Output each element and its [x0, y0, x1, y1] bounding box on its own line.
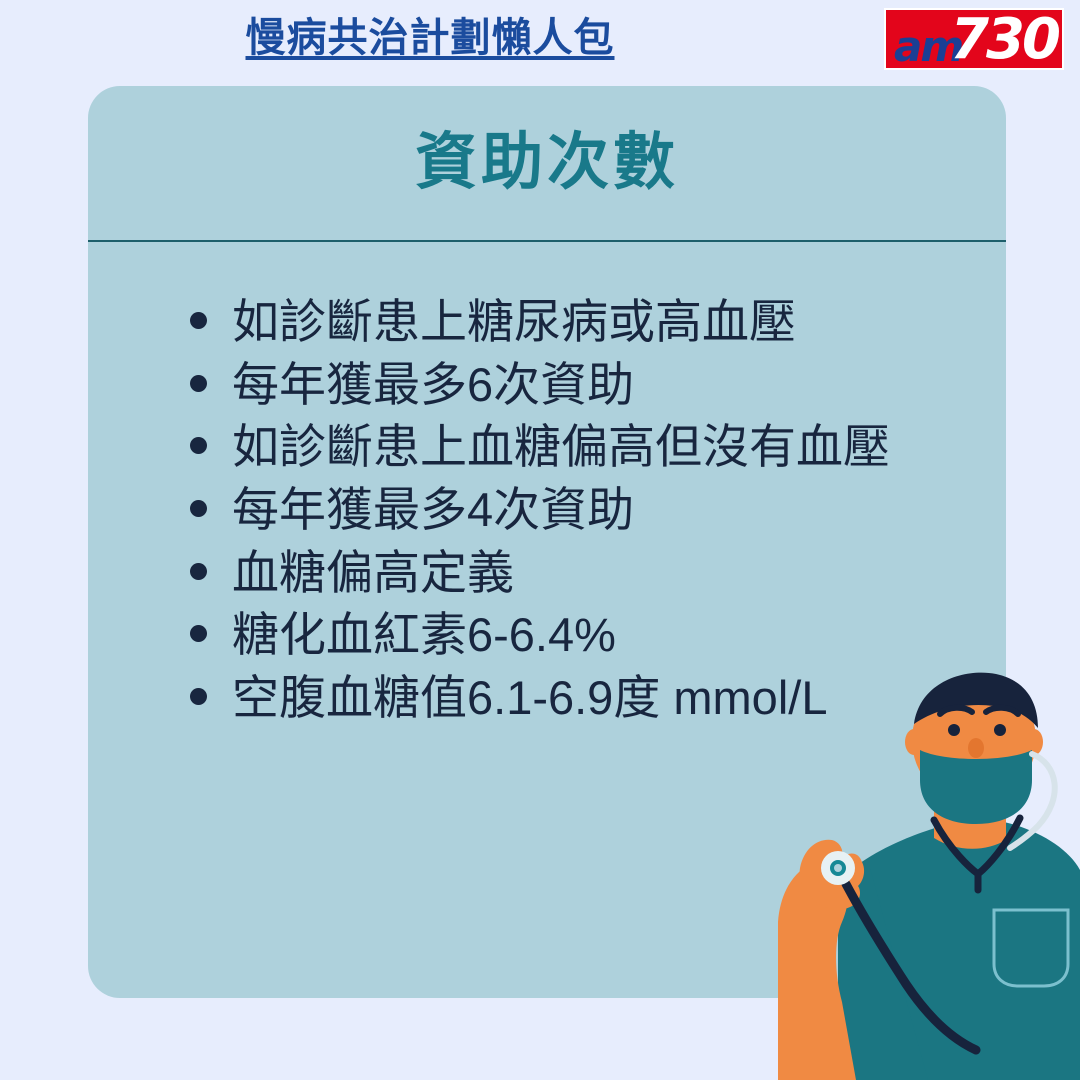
bullet-dot-icon [190, 625, 207, 642]
logo-730-text: 730 [950, 12, 1058, 68]
bullet-dot-icon [190, 500, 207, 517]
info-card: 資助次數 如診斷患上糖尿病或高血壓 每年獲最多6次資助 如診斷患上血糖偏高但沒有… [88, 86, 1006, 998]
list-item-label: 血糖偏高定義 [232, 546, 514, 599]
bullet-dot-icon [190, 437, 207, 454]
ear-right [1025, 729, 1043, 755]
bullet-dot-icon [190, 688, 207, 705]
card-divider [88, 240, 1006, 242]
list-item: 血糖偏高定義 [184, 543, 974, 603]
list-item: 每年獲最多6次資助 [184, 355, 974, 415]
bullet-list: 如診斷患上糖尿病或高血壓 每年獲最多6次資助 如診斷患上血糖偏高但沒有血壓 每年… [184, 292, 974, 731]
list-item-label: 如診斷患上糖尿病或高血壓 [232, 295, 796, 348]
top-bar: 慢病共治計劃懶人包 am 730 [0, 0, 1080, 86]
list-item: 如診斷患上糖尿病或高血壓 [184, 292, 974, 352]
list-item: 糖化血紅素6-6.4% [184, 605, 974, 665]
list-item-label: 每年獲最多6次資助 [232, 358, 634, 411]
list-item: 每年獲最多4次資助 [184, 480, 974, 540]
bullet-dot-icon [190, 312, 207, 329]
page-title: 慢病共治計劃懶人包 [0, 14, 860, 62]
list-item-label: 如診斷患上血糖偏高但沒有血壓 [232, 420, 890, 473]
am730-logo: am 730 [884, 8, 1064, 70]
mask-strap [1010, 754, 1055, 848]
list-item-label: 糖化血紅素6-6.4% [232, 608, 616, 661]
card-heading: 資助次數 [88, 124, 1006, 202]
list-item: 如診斷患上血糖偏高但沒有血壓 [184, 417, 974, 477]
list-item-label: 每年獲最多4次資助 [232, 483, 634, 536]
list-item: 空腹血糖值6.1-6.9度 mmol/L [184, 668, 974, 728]
bullet-dot-icon [190, 375, 207, 392]
list-item-label: 空腹血糖值6.1-6.9度 mmol/L [232, 671, 827, 724]
bullet-dot-icon [190, 563, 207, 580]
